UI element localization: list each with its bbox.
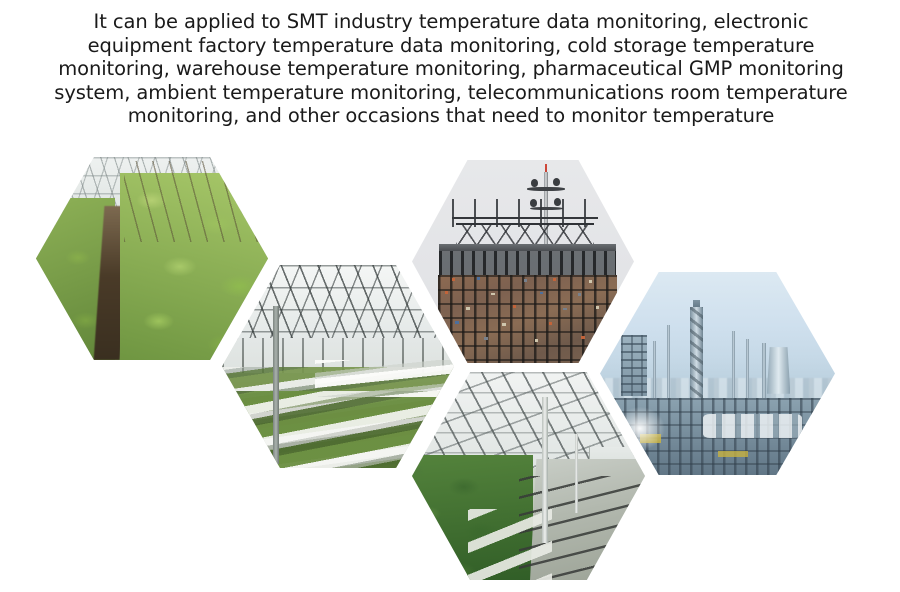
hex-image-industrial-greenhouse-planters[interactable] — [222, 265, 454, 468]
window-pane — [553, 278, 556, 281]
microwave-dish-icon — [531, 179, 538, 187]
window-pane — [563, 308, 566, 311]
industrial-greenhouse-photo — [222, 265, 454, 468]
smokestack — [667, 325, 671, 406]
storage-tanks — [703, 414, 802, 438]
window-pane — [535, 339, 538, 342]
smokestack — [746, 339, 750, 406]
window-pane — [589, 280, 592, 283]
main-distillation-column — [690, 307, 702, 413]
hex-image-petrochemical-refinery[interactable] — [600, 272, 835, 475]
window-pane — [477, 277, 480, 280]
support-stalks — [124, 161, 268, 242]
hex-image-greenhouse-walkway[interactable] — [412, 372, 645, 580]
petrochemical-refinery-photo — [600, 272, 835, 475]
hex-image-greenhouse-tomato-rows[interactable] — [36, 157, 268, 360]
window-pane — [578, 293, 581, 296]
distillation-tower-left — [621, 335, 647, 396]
window-pane — [540, 292, 543, 295]
window-pane — [502, 323, 505, 326]
smokestack — [653, 341, 657, 406]
cooling-tower — [767, 347, 791, 394]
window-pane — [445, 291, 448, 294]
microwave-dish-icon — [553, 178, 560, 186]
hex-image-telecommunications-building[interactable] — [412, 160, 634, 363]
window-pane — [466, 307, 469, 310]
antenna-platform-upper — [527, 187, 565, 191]
seedling-trays — [315, 360, 454, 397]
building-facade — [438, 275, 618, 363]
upper-floors — [439, 251, 617, 275]
roof-support-column — [575, 434, 578, 513]
planter-beds-back — [222, 391, 454, 468]
greenhouse-walkway-photo — [412, 372, 645, 580]
smokestack — [732, 331, 736, 406]
window-pane — [491, 293, 494, 296]
support-post — [273, 306, 279, 464]
window-pane — [524, 279, 527, 282]
window-pane — [452, 278, 455, 281]
window-pane — [455, 321, 458, 324]
hexagon-image-gallery — [0, 0, 900, 592]
smokestack — [762, 343, 766, 406]
greenhouse-tomato-rows-photo — [36, 157, 268, 360]
roof-support-column — [542, 397, 547, 543]
product-application-banner: It can be applied to SMT industry temper… — [0, 0, 900, 592]
rooftop-gantry — [456, 223, 594, 245]
telecom-building-photo — [412, 160, 634, 363]
window-pane — [549, 322, 552, 325]
window-pane — [484, 337, 487, 340]
window-pane — [513, 305, 516, 308]
window-pane — [581, 336, 584, 339]
grow-bags — [468, 509, 552, 580]
window-pane — [596, 306, 599, 309]
yellow-equipment — [718, 451, 749, 457]
